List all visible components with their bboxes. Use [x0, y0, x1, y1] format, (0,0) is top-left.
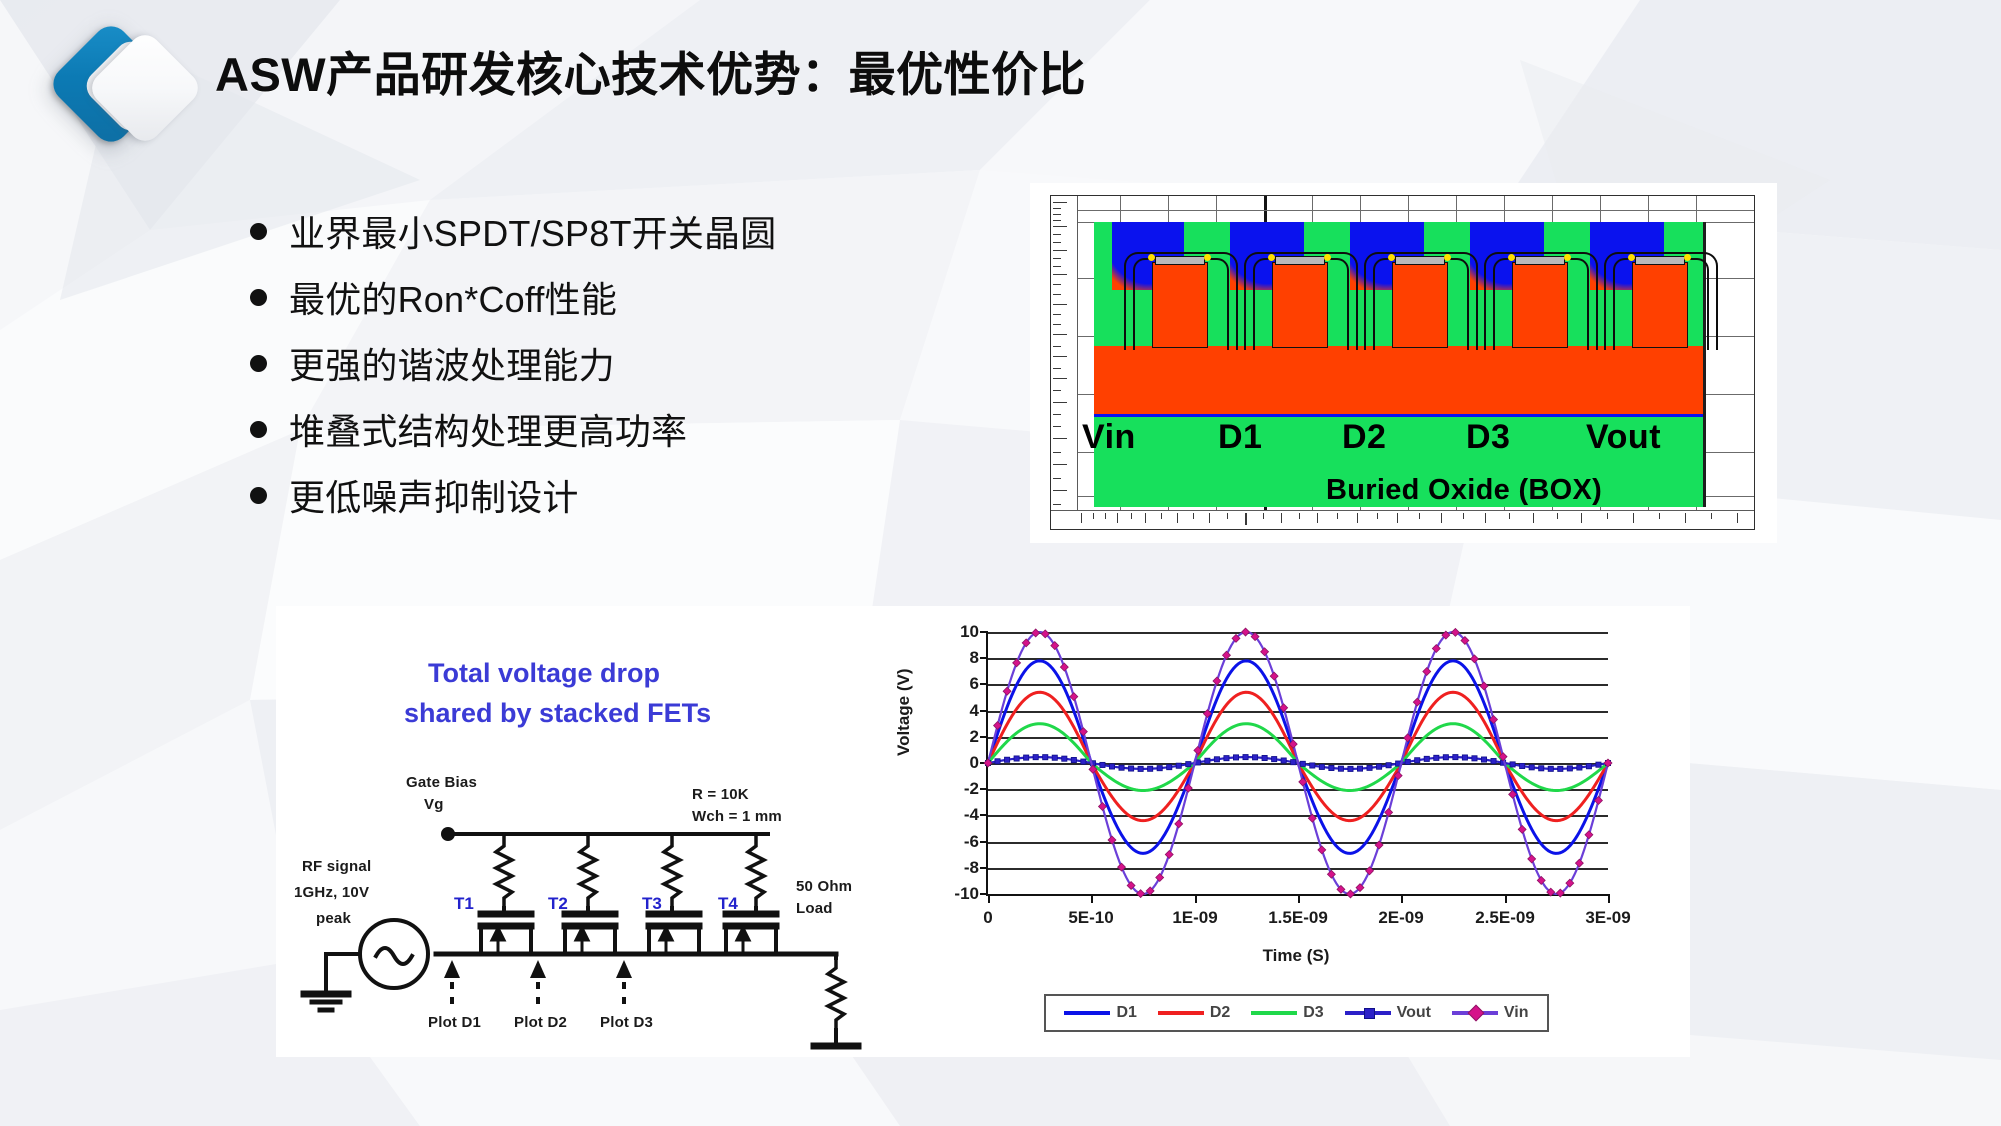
legend-label: Vout: [1397, 1004, 1431, 1022]
y-tick-label: 2: [970, 727, 979, 747]
bullet-label: 堆叠式结构处理更高功率: [289, 403, 687, 455]
source-drain-band: [1094, 346, 1703, 414]
gate-stack: [1512, 262, 1568, 348]
contact-dot: [1388, 254, 1395, 261]
y-tick-label: -6: [964, 832, 979, 852]
legend-item-d3: D3: [1251, 1004, 1323, 1022]
cross-section-plot-area: Vin D1 D2 D3 Vout Buried Oxide (BOX): [1078, 196, 1754, 511]
vertical-ruler: [1051, 196, 1078, 529]
list-item: 业界最小SPDT/SP8T开关晶圆: [250, 198, 776, 264]
contact-dot: [1444, 254, 1451, 261]
contact-dot: [1684, 254, 1691, 261]
legend-swatch-vout: [1345, 1011, 1391, 1015]
list-item: 更低噪声抑制设计: [250, 462, 776, 528]
bullet-label: 最优的Ron*Coff性能: [289, 271, 617, 323]
legend-swatch-vin: [1452, 1011, 1498, 1015]
cross-section-frame: Vin D1 D2 D3 Vout Buried Oxide (BOX): [1050, 195, 1755, 530]
chart-y-axis-label: Voltage (V): [894, 668, 914, 756]
bullet-dot-icon: [250, 355, 267, 372]
legend-item-d1: D1: [1064, 1004, 1136, 1022]
x-tick-label: 3E-09: [1585, 908, 1630, 928]
contact-dot: [1148, 254, 1155, 261]
y-tick-label: -4: [964, 805, 979, 825]
stacked-fet-schematic: Total voltage drop shared by stacked FET…: [276, 606, 886, 1057]
gate-stack: [1632, 262, 1688, 348]
page-title: ASW产品研发核心技术优势：最优性价比: [215, 36, 1086, 105]
y-tick-label: -8: [964, 858, 979, 878]
node-label-vin: Vin: [1082, 418, 1136, 457]
bullet-dot-icon: [250, 223, 267, 240]
list-item: 堆叠式结构处理更高功率: [250, 396, 776, 462]
y-tick-label: 4: [970, 701, 979, 721]
legend-label: D3: [1303, 1004, 1323, 1022]
y-tick-label: 8: [970, 648, 979, 668]
list-item: 最优的Ron*Coff性能: [250, 264, 776, 330]
legend-swatch-d2: [1158, 1011, 1204, 1015]
x-tick-label: 2E-09: [1378, 908, 1423, 928]
legend-swatch-d1: [1064, 1011, 1110, 1015]
slide-canvas: ASW产品研发核心技术优势：最优性价比 业界最小SPDT/SP8T开关晶圆 最优…: [0, 0, 2001, 1126]
contact-dot: [1268, 254, 1275, 261]
x-tick-label: 1.5E-09: [1268, 908, 1328, 928]
silicon-layer: Vin D1 D2 D3 Vout Buried Oxide (BOX): [1094, 222, 1706, 507]
legend-label: D2: [1210, 1004, 1230, 1022]
buried-oxide-label: Buried Oxide (BOX): [1326, 474, 1602, 507]
feature-bullet-list: 业界最小SPDT/SP8T开关晶圆 最优的Ron*Coff性能 更强的谐波处理能…: [250, 198, 776, 528]
contact-dot: [1204, 254, 1211, 261]
legend-label: D1: [1116, 1004, 1136, 1022]
x-tick-label: 1E-09: [1172, 908, 1217, 928]
schematic-wiring: [276, 606, 886, 1057]
waveform-traces: [988, 632, 1608, 894]
node-label-d2: D2: [1342, 418, 1386, 457]
legend-label: Vin: [1504, 1004, 1529, 1022]
node-label-vout: Vout: [1586, 418, 1661, 457]
list-item: 更强的谐波处理能力: [250, 330, 776, 396]
chart-x-axis-label: Time (S): [986, 946, 1606, 966]
y-tick-label: 10: [960, 622, 979, 642]
stacked-fet-analysis-panel: Total voltage drop shared by stacked FET…: [276, 606, 1690, 1057]
legend-item-vout: Vout: [1345, 1004, 1431, 1022]
node-label-d1: D1: [1218, 418, 1262, 457]
bullet-dot-icon: [250, 487, 267, 504]
contact-dot: [1628, 254, 1635, 261]
node-label-d3: D3: [1466, 418, 1510, 457]
gate-stack: [1392, 262, 1448, 348]
y-tick-label: -10: [954, 884, 979, 904]
bullet-label: 更强的谐波处理能力: [289, 337, 615, 389]
asw-logo: [55, 28, 205, 146]
contact-dot: [1324, 254, 1331, 261]
x-tick-label: 5E-10: [1068, 908, 1113, 928]
gate-stack: [1272, 262, 1328, 348]
gate-stack: [1152, 262, 1208, 348]
contact-dot: [1508, 254, 1515, 261]
bullet-dot-icon: [250, 289, 267, 306]
y-tick-label: 6: [970, 674, 979, 694]
legend-item-d2: D2: [1158, 1004, 1230, 1022]
buried-oxide-line: [1094, 414, 1703, 417]
voltage-waveform-chart: Voltage (V) 10 8 6 4 2: [886, 606, 1690, 1057]
horizontal-ruler: [1051, 510, 1754, 529]
bullet-dot-icon: [250, 421, 267, 438]
chart-plot-area: 10 8 6 4 2 0 -2: [986, 632, 1608, 896]
chart-legend: D1 D2 D3 Vout: [1044, 994, 1549, 1032]
x-tick-label: 0: [983, 908, 992, 928]
device-cross-section-panel: Vin D1 D2 D3 Vout Buried Oxide (BOX): [1030, 183, 1777, 543]
bullet-label: 更低噪声抑制设计: [289, 469, 579, 521]
legend-item-vin: Vin: [1452, 1004, 1529, 1022]
y-tick-label: 0: [970, 753, 979, 773]
legend-swatch-d3: [1251, 1011, 1297, 1015]
x-tick-label: 2.5E-09: [1475, 908, 1535, 928]
y-tick-label: -2: [964, 779, 979, 799]
bullet-label: 业界最小SPDT/SP8T开关晶圆: [289, 205, 776, 257]
contact-dot: [1564, 254, 1571, 261]
